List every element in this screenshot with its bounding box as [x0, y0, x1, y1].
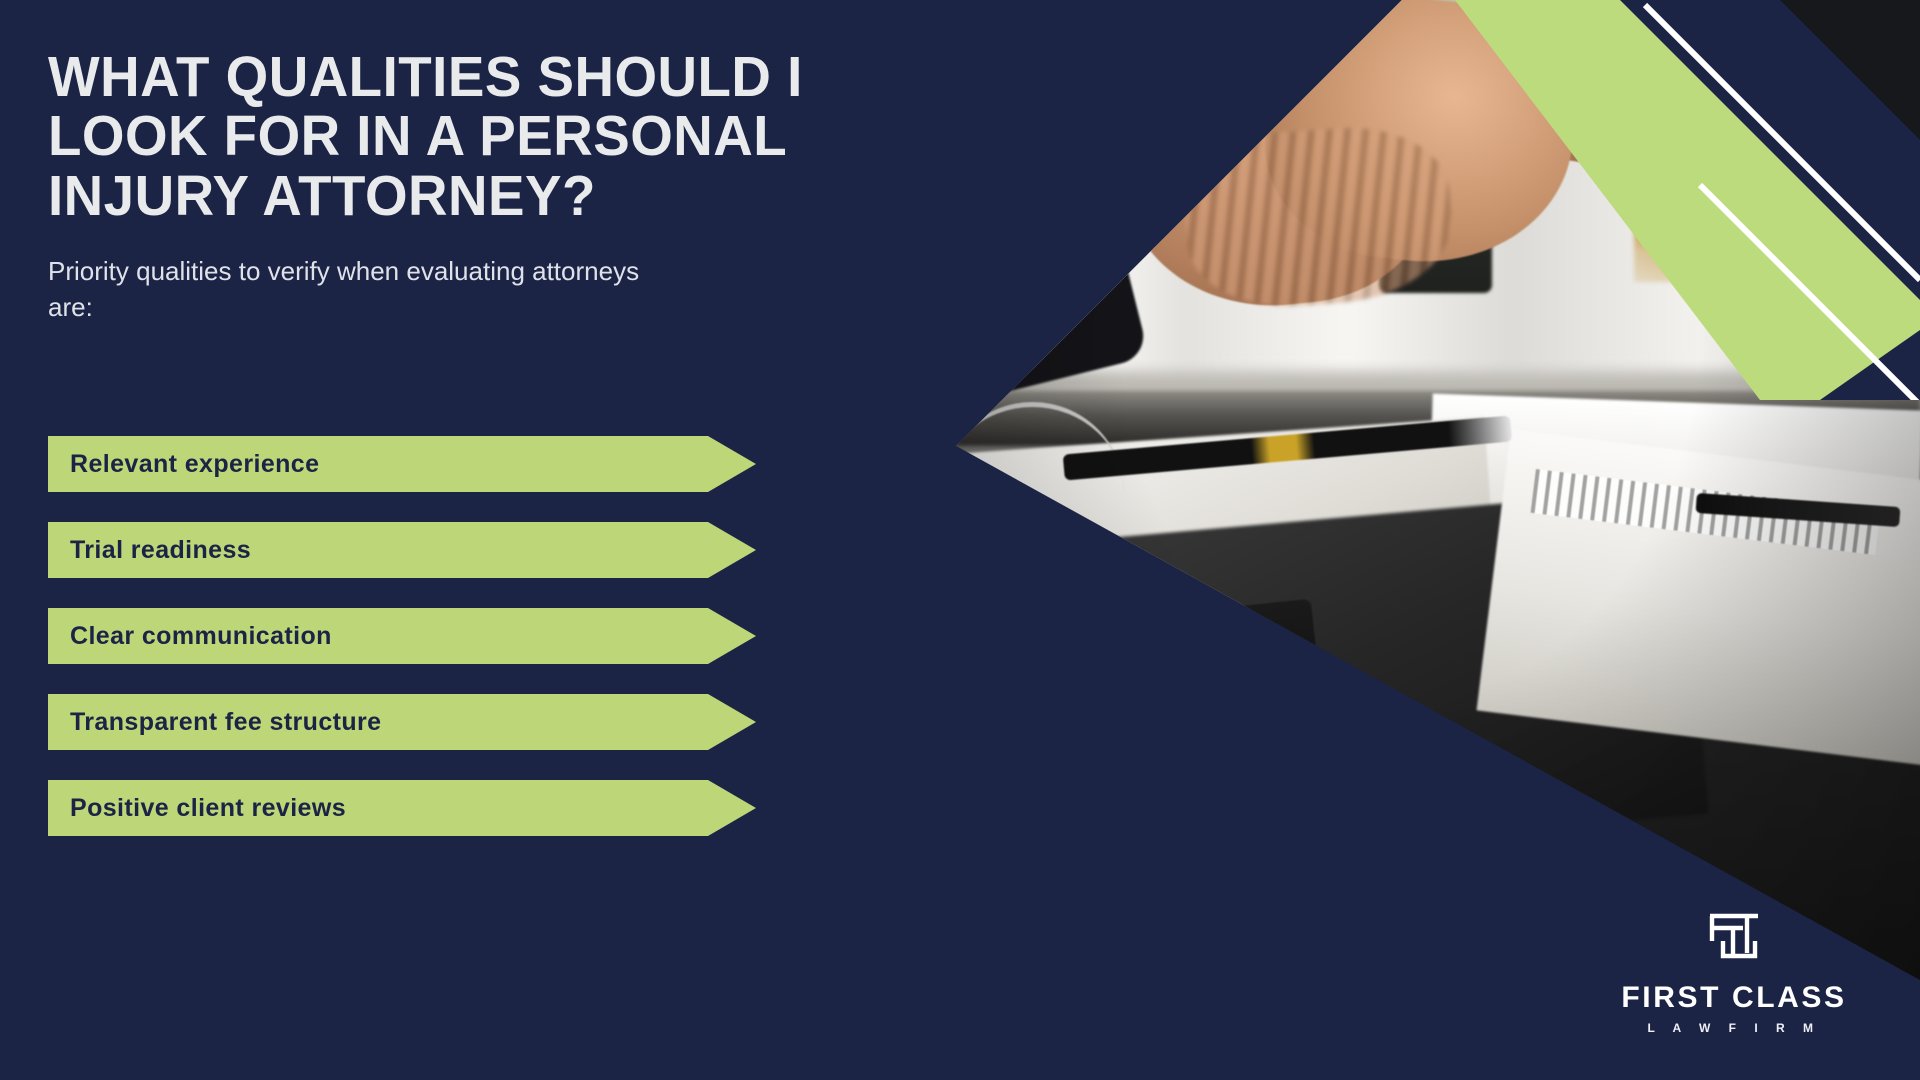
quality-label: Positive client reviews	[48, 794, 346, 823]
brand-logo[interactable]: FIRST CLASS L A W F I R M	[1600, 911, 1868, 1034]
list-item[interactable]: Trial readiness	[48, 522, 756, 578]
quality-label: Relevant experience	[48, 450, 319, 479]
list-item[interactable]: Clear communication	[48, 608, 756, 664]
logo-tagline: L A W F I R M	[1600, 1022, 1868, 1034]
page-subtitle: Priority qualities to verify when evalua…	[48, 254, 688, 326]
fc-monogram-icon	[1703, 911, 1765, 969]
quality-label: Transparent fee structure	[48, 708, 382, 737]
page-title: WHAT QUALITIES SHOULD I LOOK FOR IN A PE…	[48, 48, 816, 226]
infographic-canvas: WHAT QUALITIES SHOULD I LOOK FOR IN A PE…	[0, 0, 1920, 1080]
handshake-photo	[900, 0, 1920, 980]
photo-layer-gavel-neck	[1167, 727, 1246, 841]
photo-layer-vignette	[900, 0, 1920, 980]
photo-panel	[900, 0, 1920, 980]
list-item[interactable]: Positive client reviews	[48, 780, 756, 836]
list-item[interactable]: Transparent fee structure	[48, 694, 756, 750]
photo-layer-sound-block	[1084, 806, 1390, 904]
qualities-list: Relevant experience Trial readiness Clea…	[48, 436, 808, 866]
list-item[interactable]: Relevant experience	[48, 436, 756, 492]
photo-layer-gavel-band	[1132, 651, 1291, 732]
quality-label: Trial readiness	[48, 536, 251, 565]
fc-monogram-svg	[1703, 911, 1765, 969]
photo-layer-gavel-handle	[944, 637, 1204, 771]
quality-label: Clear communication	[48, 622, 332, 651]
logo-name: FIRST CLASS	[1600, 983, 1868, 1013]
text-content: WHAT QUALITIES SHOULD I LOOK FOR IN A PE…	[48, 48, 848, 326]
